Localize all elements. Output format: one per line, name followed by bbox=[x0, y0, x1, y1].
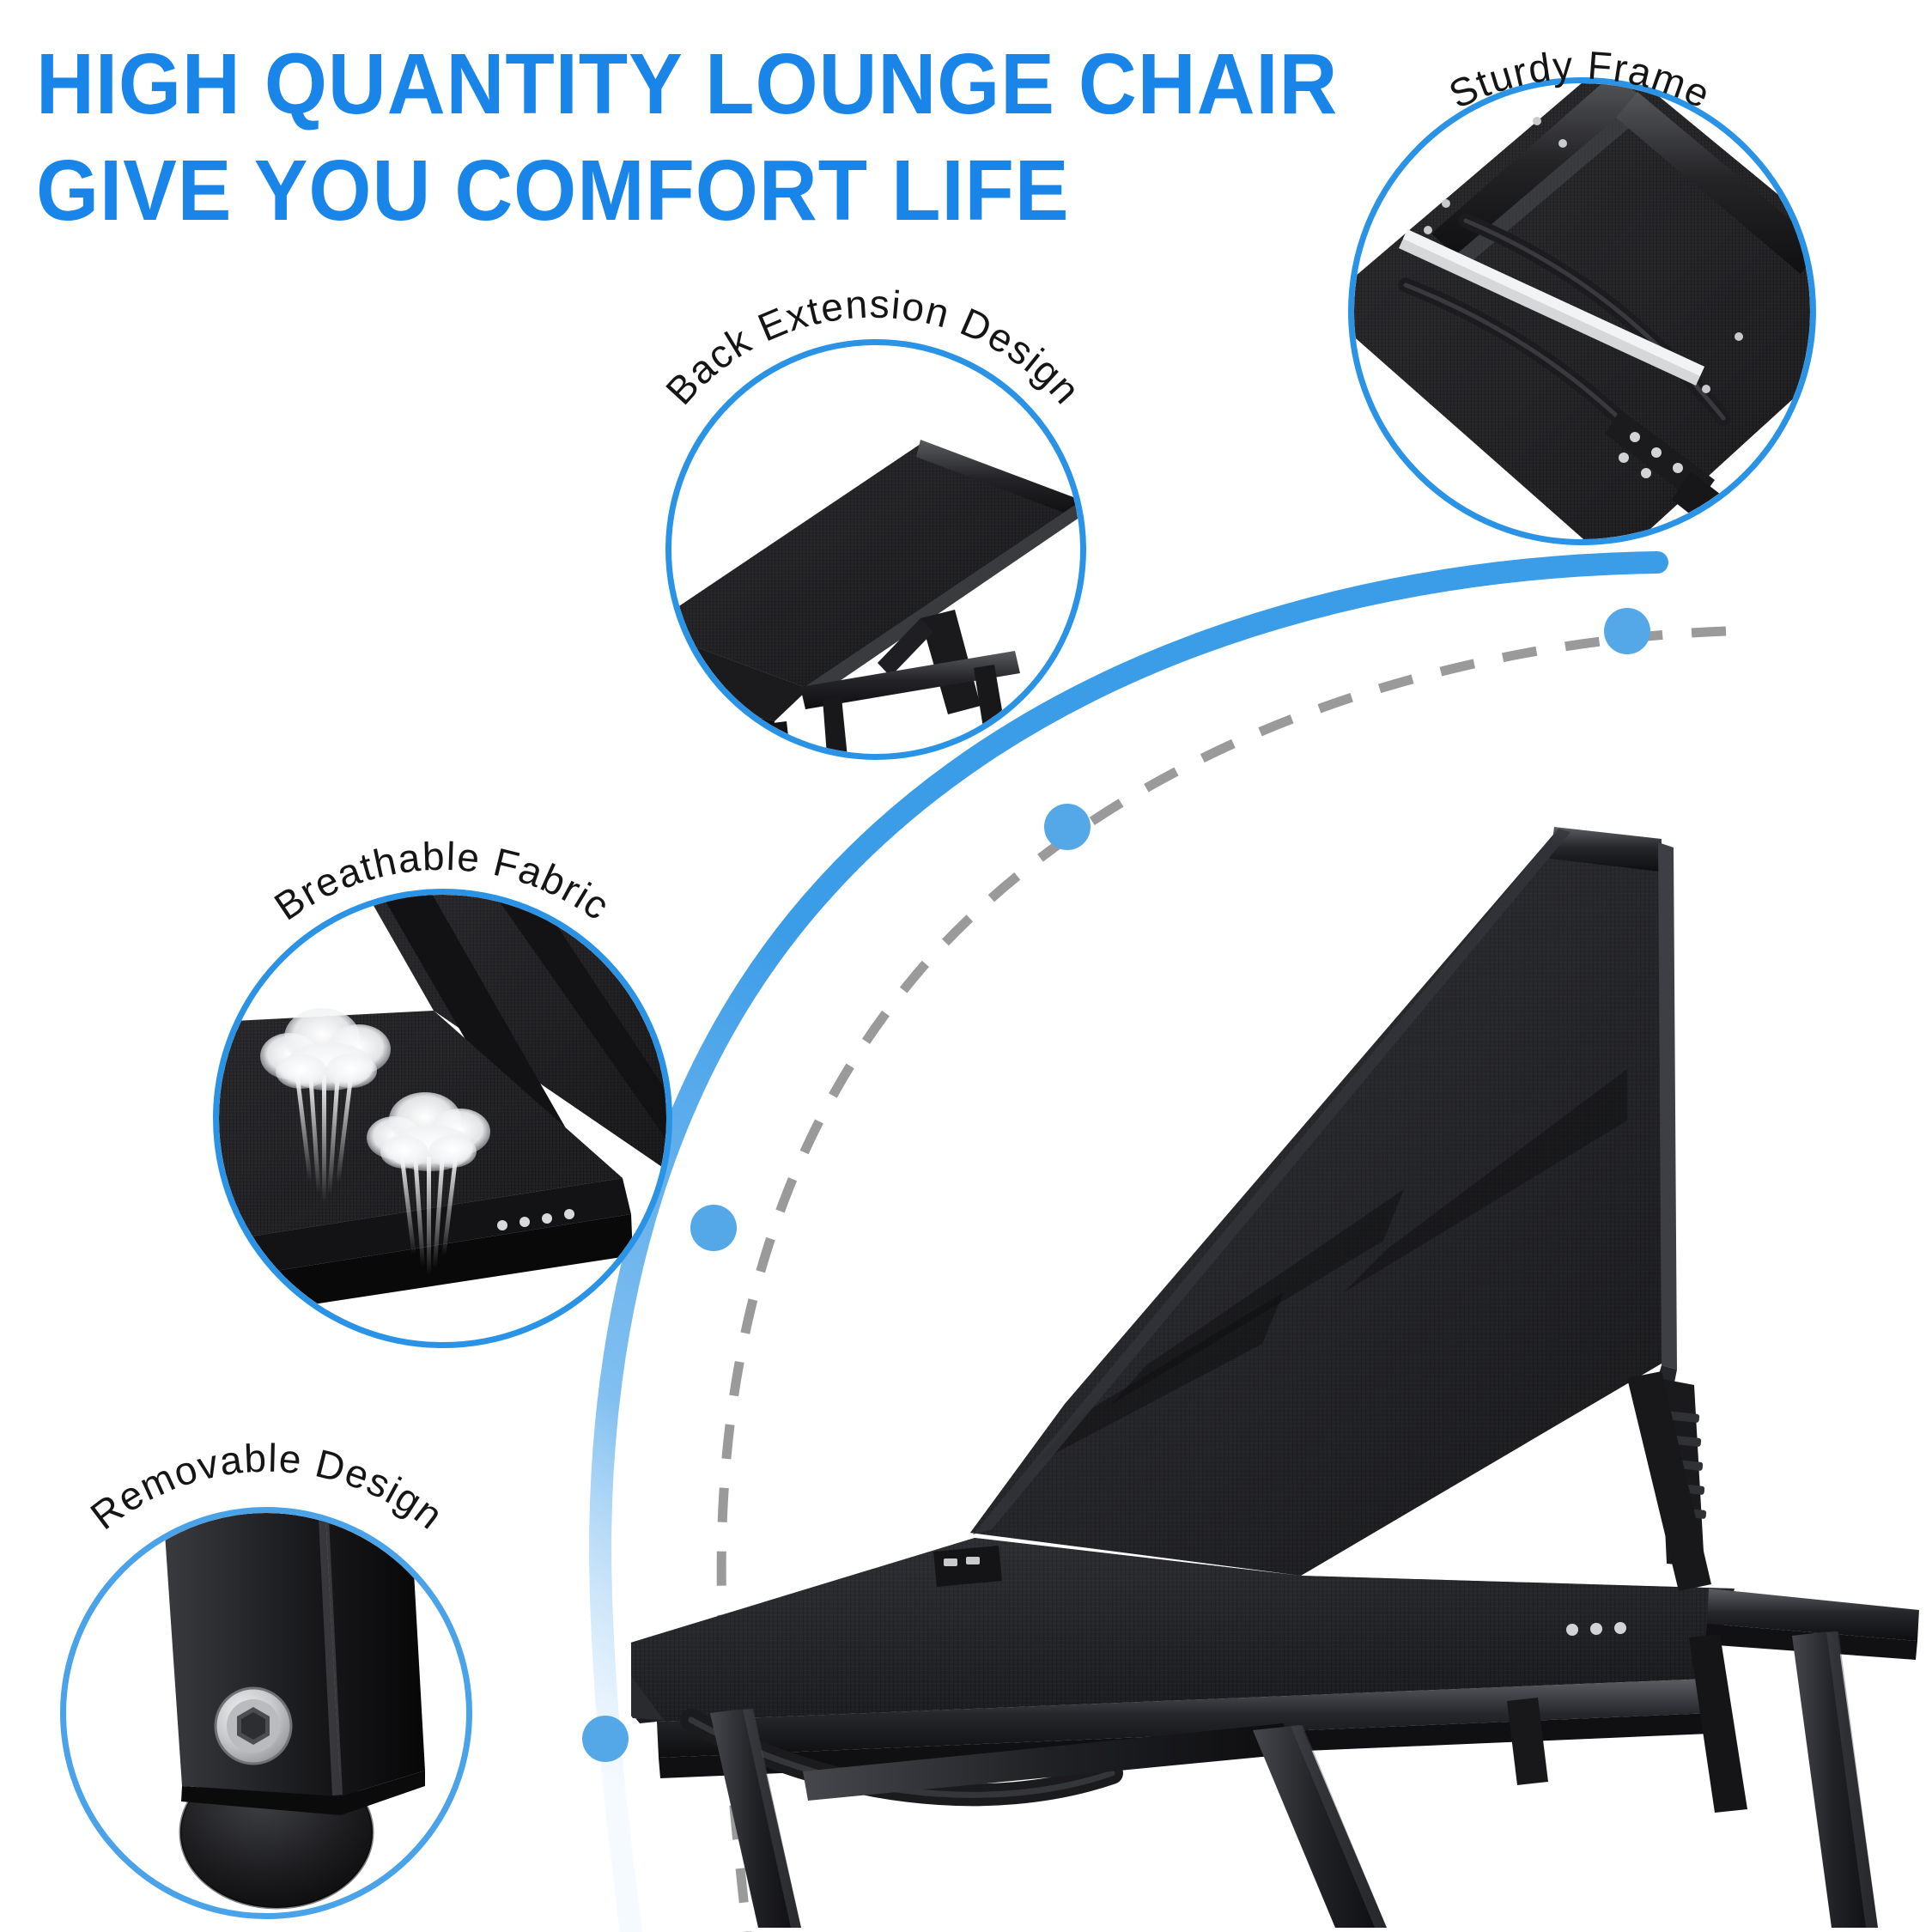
callout-breathable-fabric: Breathable Fabric bbox=[213, 889, 672, 1348]
callout-label-text-sturdy-frame: Sturdy Frame bbox=[1442, 43, 1717, 118]
headline-line-1: HIGH QUANTITY LOUNGE CHAIR bbox=[36, 31, 1206, 137]
hero-description: Black aluminium outdoor chaise lounge ch… bbox=[0, 0, 1, 1]
callout-back-extension-design: Back Extension Design bbox=[665, 339, 1086, 760]
svg-text:Sturdy Frame: Sturdy Frame bbox=[1442, 43, 1717, 118]
callout-label-text-breathable-fabric: Breathable Fabric bbox=[266, 834, 618, 929]
callout-removable-design: Removable Design bbox=[60, 1507, 472, 1919]
callout-label-sturdy-frame: Sturdy Frame bbox=[1288, 10, 1872, 234]
callout-label-removable-design: Removable Design bbox=[0, 1425, 551, 1648]
svg-text:Removable Design: Removable Design bbox=[82, 1435, 453, 1538]
feature-description-sturdy-frame: Underside view of the lounge chair alumi… bbox=[0, 0, 1, 1]
chaise-lounge-chair bbox=[631, 811, 1919, 1928]
arc-dot-1 bbox=[1604, 608, 1650, 654]
callout-label-back-extension: Back Extension Design bbox=[598, 269, 1148, 483]
frame-foot bbox=[1672, 471, 1758, 539]
recline-adjuster-block bbox=[933, 1546, 1002, 1587]
svg-text:Back Extension Design: Back Extension Design bbox=[657, 282, 1090, 413]
headline-block: HIGH QUANTITY LOUNGE CHAIR GIVE YOU COMF… bbox=[36, 31, 1281, 244]
callout-label-text-back-extension: Back Extension Design bbox=[657, 282, 1090, 413]
front-leg bbox=[823, 697, 848, 754]
callout-sturdy-frame: Sturdy Frame bbox=[1348, 77, 1816, 545]
callout-label-text-removable-design: Removable Design bbox=[82, 1435, 453, 1538]
feature-description-back-extension: Reclined back panel raised on its adjust… bbox=[0, 0, 1, 1]
infographic-canvas: HIGH QUANTITY LOUNGE CHAIR GIVE YOU COMF… bbox=[0, 0, 1932, 1932]
rear-leg bbox=[974, 665, 1012, 754]
headline-line-2: GIVE YOU COMFORT LIFE bbox=[36, 137, 1206, 244]
seat-base-rivets bbox=[689, 704, 747, 721]
stub-leg bbox=[773, 721, 792, 754]
feature-description-breathable-fabric: Close-up of textilene seat fabric with t… bbox=[0, 0, 1, 1]
hero-product-image bbox=[631, 811, 1919, 1928]
hex-bolt bbox=[216, 1688, 291, 1764]
arc-dot-4 bbox=[582, 1716, 629, 1762]
svg-text:Breathable Fabric: Breathable Fabric bbox=[266, 834, 618, 929]
feature-description-removable-design: Close-up of chair leg end with hex bolt … bbox=[0, 0, 1, 1]
